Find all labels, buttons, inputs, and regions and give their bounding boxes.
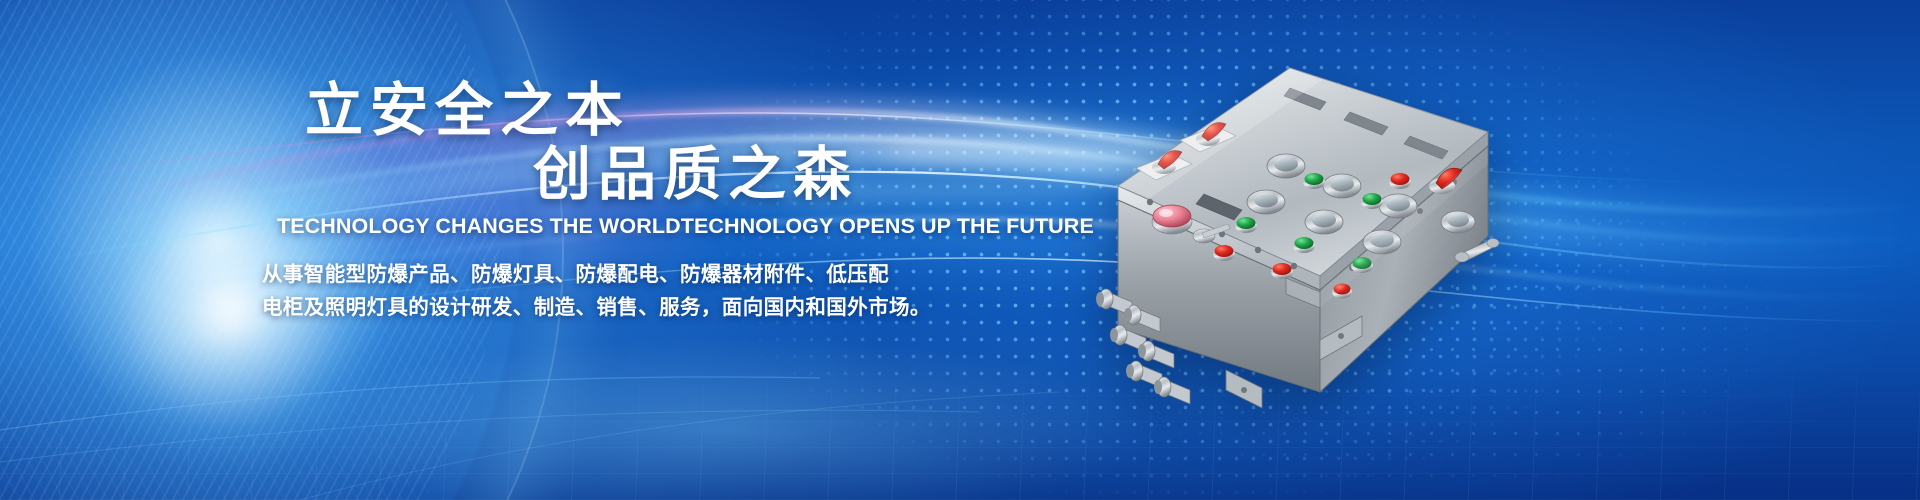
headline-line-2: 创品质之森 [533,146,858,204]
description-line-1: 从事智能型防爆产品、防爆灯具、防爆配电、防爆器材附件、低压配 [262,258,922,291]
headline-line-1: 立安全之本 [305,82,630,140]
english-tagline: TECHNOLOGY CHANGES THE WORLDTECHNOLOGY O… [277,214,1094,239]
description-line-2: 电柜及照明灯具的设计研发、制造、销售、服务，面向国内和国外市场。 [262,291,922,324]
hero-banner: 立安全之本 创品质之森 TECHNOLOGY CHANGES THE WORLD… [0,0,1920,500]
bracket-bolt-bottom [1241,387,1247,393]
description-paragraph: 从事智能型防爆产品、防爆灯具、防爆配电、防爆器材附件、低压配 电柜及照明灯具的设… [262,258,922,324]
banner-text-block: 立安全之本 创品质之森 TECHNOLOGY CHANGES THE WORLD… [0,0,960,500]
product-image-explosion-proof-control-box [990,40,1550,440]
indicator-lamp-pink [1152,205,1192,234]
bracket-bolt [1338,333,1344,339]
